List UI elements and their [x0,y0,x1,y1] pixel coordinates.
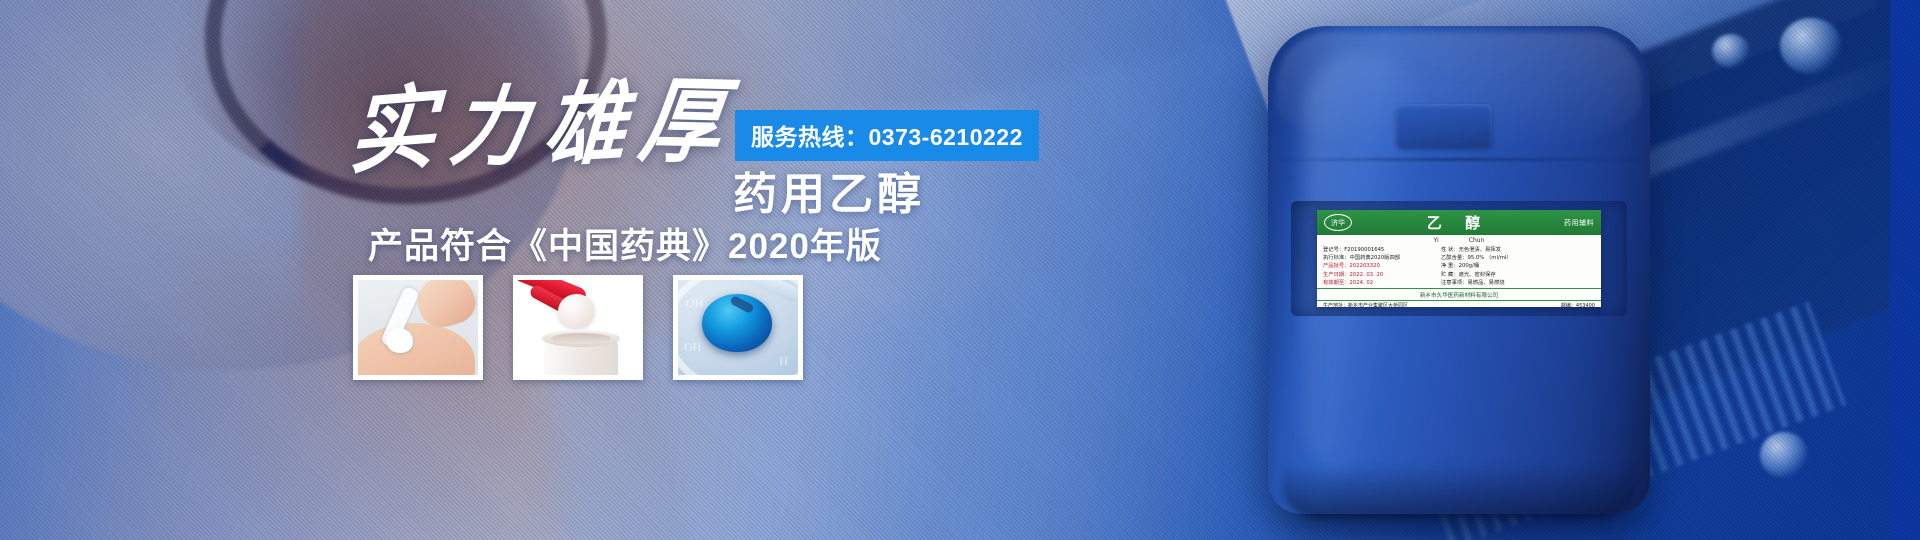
white-droplet [558,294,594,328]
headline-char-1: 实 [347,80,452,180]
drum-seam-line [1280,158,1638,161]
hand-shape [358,323,475,375]
product-name-title: 药用乙醇 [733,158,925,222]
label-cell-left: 有效期至：2024. 02 [1323,279,1441,287]
label-row: 执行标准：中国药典2020版四部乙醇含量：95.0% （ml/ml） [1323,254,1595,262]
thumbnail-red-pipette[interactable] [513,275,643,380]
headline-char-2: 力 [446,84,546,172]
drum-cap [1396,104,1492,148]
thumbnail-blue-liquid[interactable]: OH OH H [673,275,803,380]
label-product-name: 乙 醇 [1427,212,1489,233]
ethanol-drum[interactable]: 济华 乙 醇 药用辅料 Yi Chun 登记号：F20190001645性 状：… [1268,26,1650,514]
label-cell-right: 注意事项：易燃品、易燃烧 [1441,279,1505,287]
headline-char-4: 厚 [635,74,743,170]
hotline-badge[interactable]: 服务热线：0373-6210222 [735,110,1039,161]
glass-marking-1: OH [686,296,703,311]
company-logo-icon: 济华 [1324,214,1352,231]
label-cell-right: 净 重：200g/桶 [1441,262,1479,270]
label-pinyin-row: Yi Chun [1317,235,1601,245]
label-pinyin-right: Chun [1469,237,1485,244]
label-detail-rows: 登记号：F20190001645性 状：无色澄清、易挥发 执行标准：中国药典20… [1317,245,1601,287]
blue-liquid-glassware-photo: OH OH H [678,280,798,375]
glass-marking-3: H [779,354,788,369]
label-usage-tag: 药用辅料 [1564,218,1594,228]
standard-compliance-subtitle: 产品符合《中国药典》2020年版 [368,218,882,269]
label-cell-left: 产品批号：202203320 [1323,262,1441,270]
label-cell-right: 性 状：无色澄清、易挥发 [1441,246,1501,254]
hand-applicator-photo [358,280,478,375]
label-cell-right: 贮 藏：遮光、密封保存 [1441,271,1496,279]
label-row: 登记号：F20190001645性 状：无色澄清、易挥发 [1323,246,1595,254]
label-postcode: 邮编：453400 [1561,303,1595,307]
white-jar-opening [551,333,611,344]
product-label: 济华 乙 醇 药用辅料 Yi Chun 登记号：F20190001645性 状：… [1317,210,1601,307]
label-company-name: 新乡市久华医药新材料有限公司 [1317,288,1601,300]
label-pinyin-left: Yi [1434,237,1439,244]
label-row: 生产日期：2022. 03. 20贮 藏：遮光、密封保存 [1323,271,1595,279]
label-row: 有效期至：2024. 02注意事项：易燃品、易燃烧 [1323,279,1595,287]
thumbnail-hand-applicator[interactable] [353,275,483,380]
headline-char-3: 雄 [541,77,643,173]
label-cell-left: 生产日期：2022. 03. 20 [1323,271,1441,279]
label-cell-left: 登记号：F20190001645 [1323,246,1441,254]
label-row: 产品批号：202203320净 重：200g/桶 [1323,262,1595,270]
headline-calligraphy: 实力雄厚 [348,80,741,173]
label-cell-right: 乙醇含量：95.0% （ml/ml） [1441,254,1512,262]
label-address-line: 生产地址：新乡市产业集聚区大桥园区 邮编：453400 [1323,303,1595,307]
banner-content: 实力雄厚 服务热线：0373-6210222 药用乙醇 产品符合《中国药典》20… [0,0,1920,540]
thumbnail-gallery: OH OH H [353,275,803,380]
label-cell-left: 执行标准：中国药典2020版四部 [1323,254,1441,262]
glass-marking-2: OH [684,340,701,355]
drum-bottom-shading [1282,464,1636,518]
cream-blob [386,328,413,353]
label-address: 生产地址：新乡市产业集聚区大桥园区 [1323,303,1408,307]
label-header: 济华 乙 醇 药用辅料 [1317,210,1601,235]
red-pipette-photo [518,280,638,375]
promotional-banner: 实力雄厚 服务热线：0373-6210222 药用乙醇 产品符合《中国药典》20… [0,0,1920,540]
label-footer-contact: 生产地址：新乡市产业集聚区大桥园区 邮编：453400 咨询电话：0373-42… [1317,300,1601,307]
